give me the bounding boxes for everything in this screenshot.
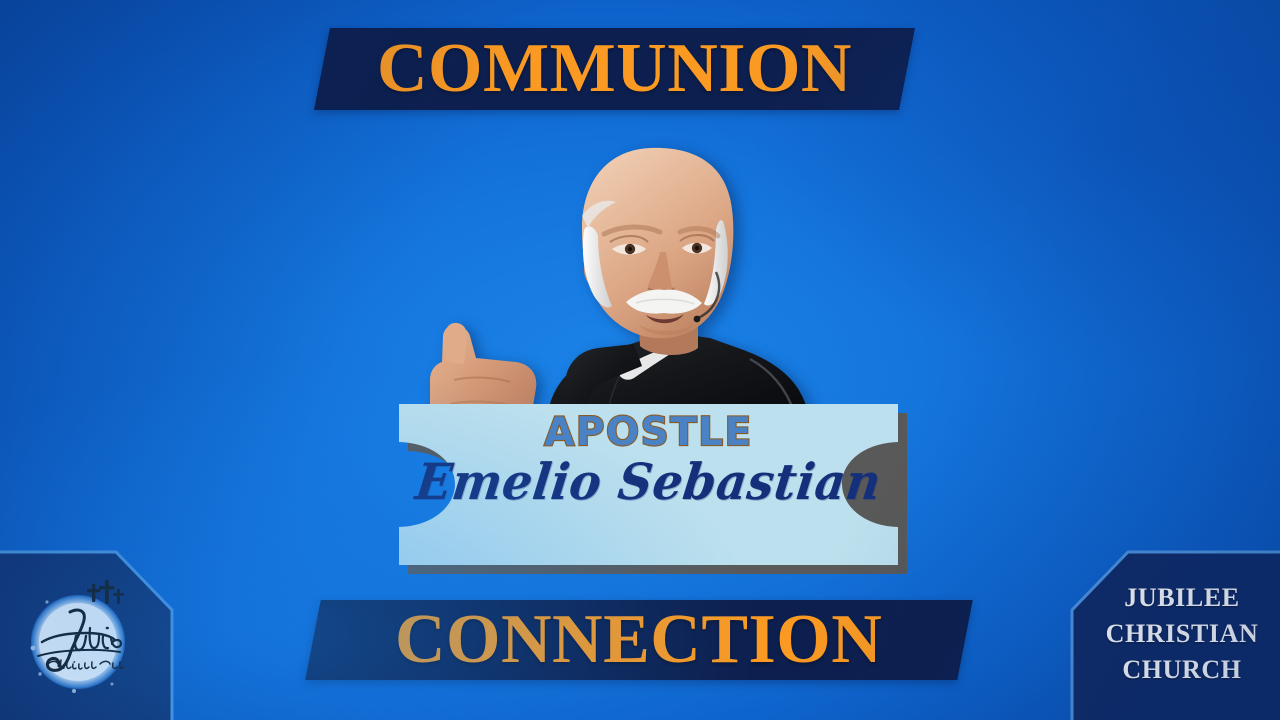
cross-trio-icon	[87, 580, 124, 604]
speaker-role: APOSTLE	[544, 413, 753, 452]
church-name-line-1: JUBILEE	[1093, 580, 1271, 616]
church-logo	[16, 578, 148, 700]
banner-communion-text: COMMUNION	[377, 34, 852, 104]
speaker-photo	[398, 112, 868, 442]
banner-connection: CONNECTION	[305, 600, 973, 680]
nameplate-text-group: APOSTLE Emelio Sebastian	[399, 404, 898, 565]
slide-canvas: COMMUNION APOSTLE Emelio Sebastian CONNE…	[0, 0, 1280, 720]
speaker-name: Emelio Sebastian	[413, 457, 884, 509]
banner-communion: COMMUNION	[314, 28, 915, 110]
banner-connection-text: CONNECTION	[395, 605, 882, 675]
church-name-line-3: CHURCH	[1093, 652, 1271, 688]
speaker-nameplate: APOSTLE Emelio Sebastian	[399, 404, 898, 565]
church-name-block: JUBILEE CHRISTIAN CHURCH	[1093, 580, 1271, 688]
church-name-line-2: CHRISTIAN	[1093, 616, 1271, 652]
